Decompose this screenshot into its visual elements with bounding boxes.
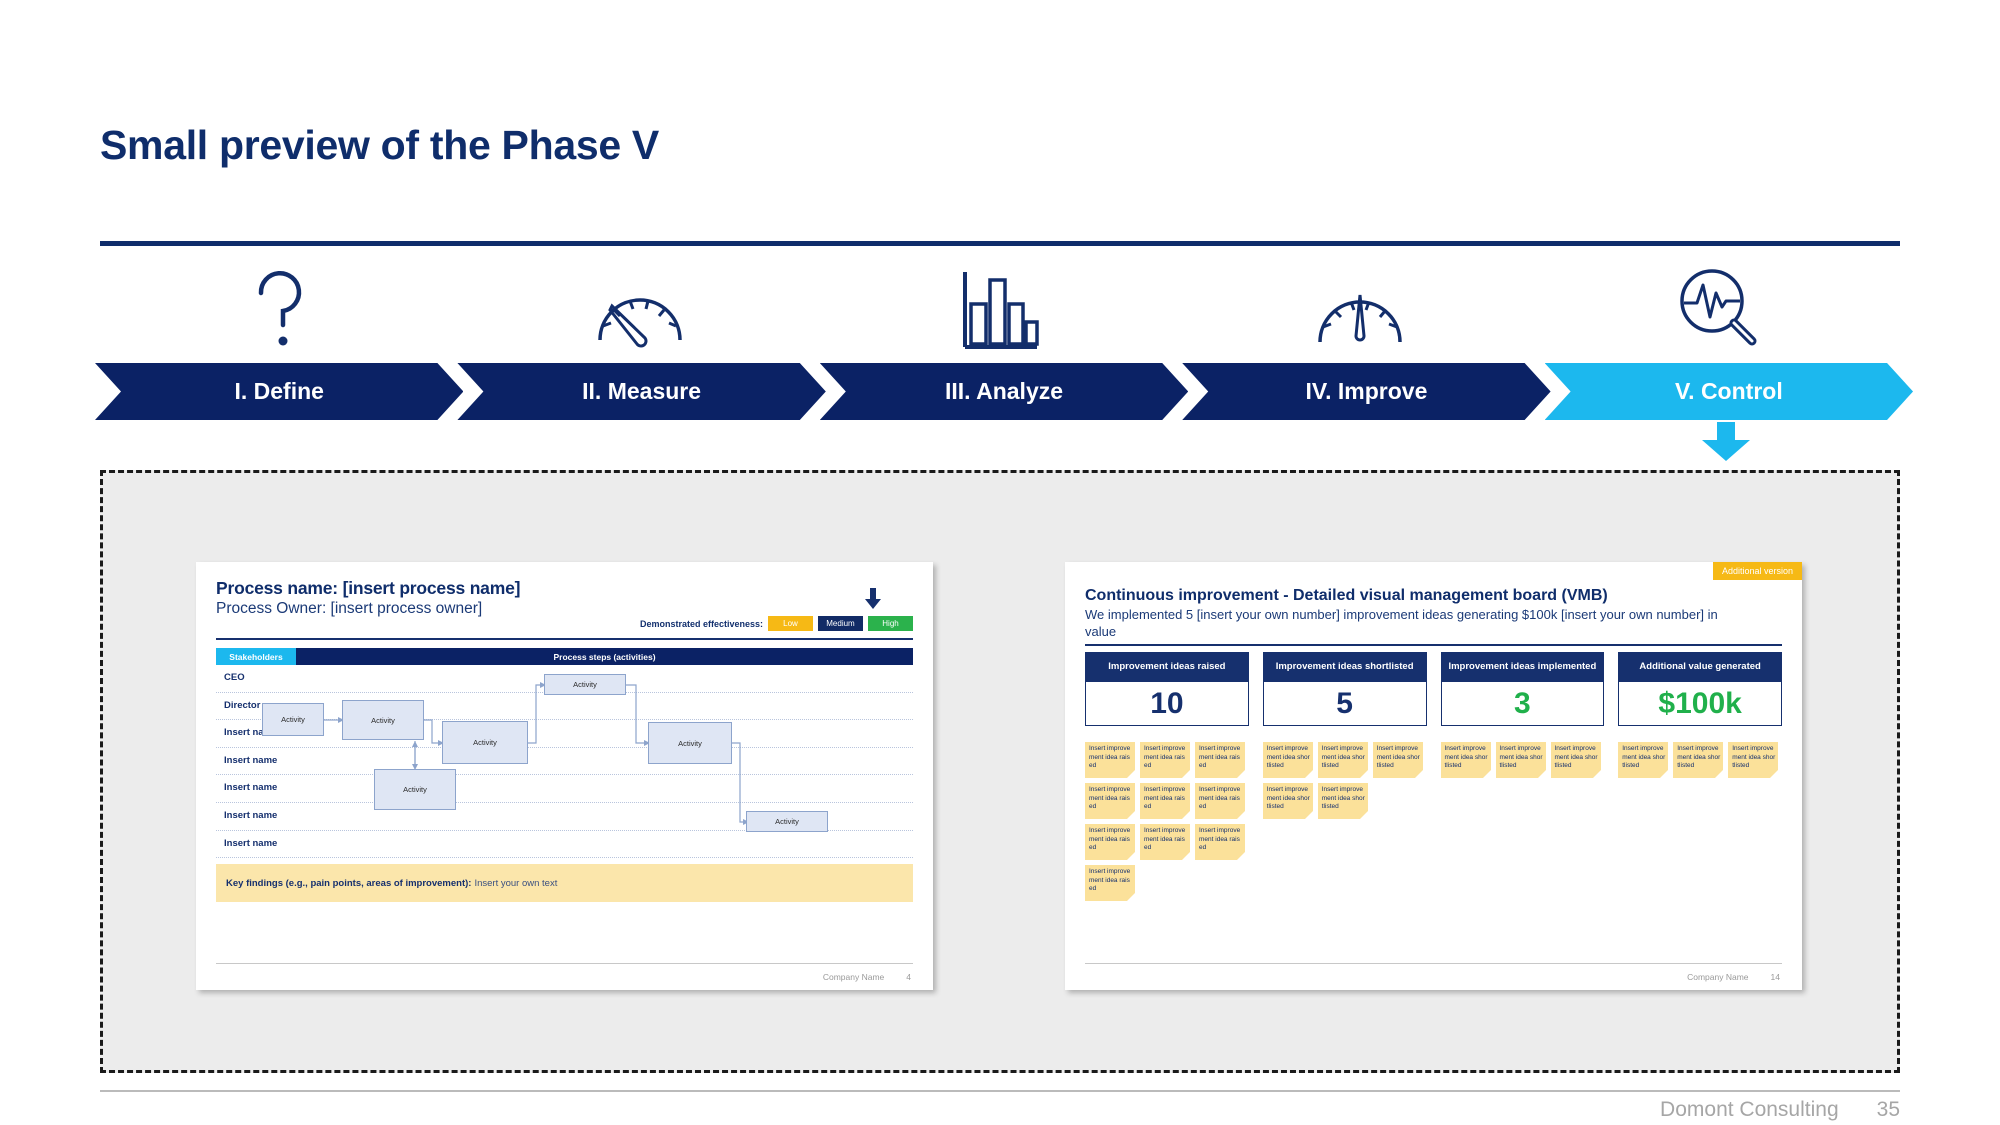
sticky-note[interactable]: Insert improvement idea shortlisted bbox=[1618, 742, 1668, 778]
activity-box[interactable]: Activity bbox=[544, 674, 626, 695]
sticky-note[interactable]: Insert improvement idea raised bbox=[1140, 783, 1190, 819]
phase-chevron-control[interactable]: V. Control bbox=[1545, 363, 1913, 420]
effectiveness-pointer-icon bbox=[865, 588, 881, 615]
vmb-title-divider bbox=[1085, 644, 1782, 646]
kpi-header: Improvement ideas shortlisted bbox=[1263, 652, 1427, 682]
kpi-body: $100k bbox=[1618, 682, 1782, 726]
kpi-card-shortlisted: Improvement ideas shortlisted 5 bbox=[1263, 652, 1427, 726]
sticky-note[interactable]: Insert improvement idea raised bbox=[1085, 742, 1135, 778]
phase-icon-row bbox=[100, 255, 1900, 365]
sticky-note[interactable]: Insert improvement idea shortlisted bbox=[1373, 742, 1423, 778]
header-divider bbox=[100, 241, 1900, 246]
activity-box[interactable]: Activity bbox=[648, 722, 732, 764]
sticky-note[interactable]: Insert improvement idea shortlisted bbox=[1496, 742, 1546, 778]
activity-box[interactable]: Activity bbox=[374, 769, 456, 810]
gauge-diagonal-icon bbox=[590, 270, 690, 350]
slide-root: Small preview of the Phase V bbox=[0, 0, 2000, 1125]
kpi-row: Improvement ideas raised 10 Improvement … bbox=[1085, 652, 1782, 726]
kpi-value: 5 bbox=[1336, 689, 1353, 719]
page-number: 35 bbox=[1877, 1098, 1900, 1122]
kpi-card-raised: Improvement ideas raised 10 bbox=[1085, 652, 1249, 726]
phase-icon-improve bbox=[1180, 255, 1540, 365]
phase-chevron-define[interactable]: I. Define bbox=[95, 363, 463, 420]
activity-box[interactable]: Activity bbox=[442, 721, 528, 764]
gauge-needle-icon bbox=[1310, 270, 1410, 350]
phase-icon-measure bbox=[460, 255, 820, 365]
sticky-note[interactable]: Insert improvement idea shortlisted bbox=[1551, 742, 1601, 778]
stakeholders-header: Stakeholders bbox=[216, 648, 296, 665]
effectiveness-legend: Demonstrated effectiveness: Low Medium H… bbox=[640, 616, 913, 631]
mini-slide-footer: Company Name 14 bbox=[1687, 972, 1780, 982]
activity-box[interactable]: Activity bbox=[342, 700, 424, 740]
kpi-value: 3 bbox=[1514, 689, 1531, 719]
sticky-note[interactable]: Insert improvement idea raised bbox=[1085, 824, 1135, 860]
phase-chevron-analyze[interactable]: III. Analyze bbox=[820, 363, 1188, 420]
mini-slide-vmb[interactable]: Additional version Continuous improvemen… bbox=[1065, 562, 1802, 990]
mini-slide-process-map[interactable]: Process name: [insert process name] Proc… bbox=[196, 562, 933, 990]
effectiveness-option-low[interactable]: Low bbox=[768, 616, 813, 631]
page-title: Small preview of the Phase V bbox=[100, 122, 659, 169]
effectiveness-option-high[interactable]: High bbox=[868, 616, 913, 631]
process-title-divider bbox=[216, 638, 913, 640]
down-arrow-icon bbox=[1700, 422, 1752, 462]
footer-page-number: 14 bbox=[1771, 972, 1780, 982]
notes-column-shortlisted: Insert improvement idea shortlistedInser… bbox=[1263, 742, 1427, 901]
phase-chevron-improve[interactable]: IV. Improve bbox=[1182, 363, 1550, 420]
footer-divider bbox=[100, 1090, 1900, 1092]
vmb-title: Continuous improvement - Detailed visual… bbox=[1085, 586, 1782, 605]
sticky-note[interactable]: Insert improvement idea shortlisted bbox=[1263, 742, 1313, 778]
kpi-card-implemented: Improvement ideas implemented 3 bbox=[1441, 652, 1605, 726]
page-footer: Domont Consulting 35 bbox=[1660, 1098, 1900, 1122]
phase-label: I. Define bbox=[234, 378, 323, 405]
sticky-note[interactable]: Insert improvement idea shortlisted bbox=[1728, 742, 1778, 778]
phase-label: III. Analyze bbox=[945, 378, 1063, 405]
kpi-body: 3 bbox=[1441, 682, 1605, 726]
sticky-note[interactable]: Insert improvement idea shortlisted bbox=[1263, 783, 1313, 819]
sticky-note[interactable]: Insert improvement idea raised bbox=[1195, 742, 1245, 778]
footer-company: Company Name bbox=[1687, 972, 1748, 982]
brand-label: Domont Consulting bbox=[1660, 1098, 1839, 1122]
footer-page-number: 4 bbox=[906, 972, 911, 982]
phase-label: II. Measure bbox=[582, 378, 701, 405]
activity-box[interactable]: Activity bbox=[262, 703, 324, 736]
sticky-note[interactable]: Insert improvement idea shortlisted bbox=[1318, 783, 1368, 819]
mini-slide-footer: Company Name 4 bbox=[823, 972, 911, 982]
key-findings-banner: Key findings (e.g., pain points, areas o… bbox=[216, 864, 913, 902]
key-findings-text: Insert your own text bbox=[474, 878, 557, 889]
phase-icon-define bbox=[100, 255, 460, 365]
additional-version-badge: Additional version bbox=[1713, 562, 1802, 580]
sticky-note[interactable]: Insert improvement idea raised bbox=[1195, 783, 1245, 819]
vmb-subtitle: We implemented 5 [insert your own number… bbox=[1085, 607, 1725, 640]
kpi-header: Improvement ideas implemented bbox=[1441, 652, 1605, 682]
effectiveness-option-medium[interactable]: Medium bbox=[818, 616, 863, 631]
phase-label: IV. Improve bbox=[1305, 378, 1427, 405]
swimlane-header: Stakeholders Process steps (activities) bbox=[216, 648, 913, 665]
question-mark-icon bbox=[245, 263, 315, 358]
kpi-body: 5 bbox=[1263, 682, 1427, 726]
process-flow-diagram: Activity Activity Activity Activity Acti… bbox=[216, 665, 913, 858]
sticky-note[interactable]: Insert improvement idea shortlisted bbox=[1441, 742, 1491, 778]
sticky-note[interactable]: Insert improvement idea raised bbox=[1085, 865, 1135, 901]
kpi-card-value: Additional value generated $100k bbox=[1618, 652, 1782, 726]
mini-footer-divider bbox=[1085, 963, 1782, 964]
sticky-notes-row: Insert improvement idea raisedInsert imp… bbox=[1085, 742, 1782, 901]
phase-label: V. Control bbox=[1675, 378, 1783, 405]
sticky-note[interactable]: Insert improvement idea raised bbox=[1140, 824, 1190, 860]
kpi-value: 10 bbox=[1150, 689, 1183, 719]
bar-chart-icon bbox=[959, 268, 1041, 353]
key-findings-label: Key findings (e.g., pain points, areas o… bbox=[226, 878, 471, 889]
kpi-body: 10 bbox=[1085, 682, 1249, 726]
footer-company: Company Name bbox=[823, 972, 884, 982]
process-name: Process name: [insert process name] bbox=[216, 578, 913, 598]
kpi-header: Improvement ideas raised bbox=[1085, 652, 1249, 682]
process-steps-header: Process steps (activities) bbox=[296, 648, 913, 665]
effectiveness-label: Demonstrated effectiveness: bbox=[640, 619, 763, 629]
sticky-note[interactable]: Insert improvement idea shortlisted bbox=[1673, 742, 1723, 778]
mini-footer-divider bbox=[216, 963, 913, 964]
phase-icon-control bbox=[1540, 255, 1900, 365]
kpi-header: Additional value generated bbox=[1618, 652, 1782, 682]
notes-column-implemented: Insert improvement idea shortlistedInser… bbox=[1441, 742, 1605, 901]
kpi-value: $100k bbox=[1658, 689, 1741, 719]
notes-column-value: Insert improvement idea shortlistedInser… bbox=[1618, 742, 1782, 901]
notes-column-raised: Insert improvement idea raisedInsert imp… bbox=[1085, 742, 1249, 901]
phase-chevron-bar: I. Define II. Measure III. Analyze IV. I… bbox=[95, 363, 1907, 420]
phase-icon-analyze bbox=[820, 255, 1180, 365]
sticky-note[interactable]: Insert improvement idea shortlisted bbox=[1318, 742, 1368, 778]
sticky-note[interactable]: Insert improvement idea raised bbox=[1140, 742, 1190, 778]
magnifier-pulse-icon bbox=[1674, 265, 1766, 355]
activity-box[interactable]: Activity bbox=[746, 811, 828, 832]
sticky-note[interactable]: Insert improvement idea raised bbox=[1195, 824, 1245, 860]
sticky-note[interactable]: Insert improvement idea raised bbox=[1085, 783, 1135, 819]
phase-chevron-measure[interactable]: II. Measure bbox=[457, 363, 825, 420]
